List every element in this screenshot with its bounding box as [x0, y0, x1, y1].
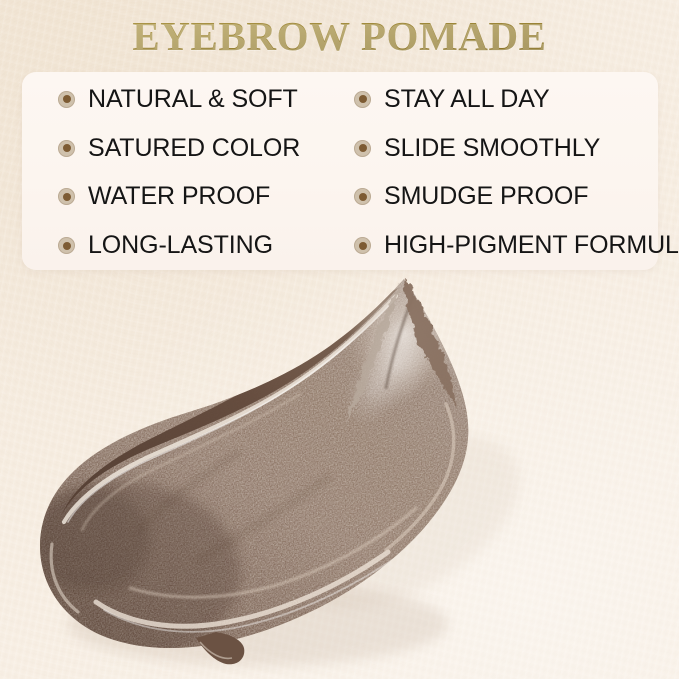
feature-item-smudge-proof: SMUDGE PROOF [333, 184, 658, 209]
bullet-dot-icon [354, 91, 371, 108]
feature-label: WATER PROOF [88, 184, 270, 209]
feature-item-natural-soft: NATURAL & SOFT [22, 87, 333, 112]
feature-label: SMUDGE PROOF [384, 184, 588, 209]
pomade-smear-swatch [0, 272, 679, 679]
feature-label: NATURAL & SOFT [88, 87, 298, 112]
feature-label: LONG-LASTING [88, 233, 273, 258]
bullet-dot-icon [354, 140, 371, 157]
feature-item-stay-all-day: STAY ALL DAY [333, 87, 658, 112]
feature-item-satured-color: SATURED COLOR [22, 136, 333, 161]
feature-card: NATURAL & SOFT STAY ALL DAY SATURED COLO… [22, 72, 658, 270]
feature-label: HIGH-PIGMENT FORMULA [384, 233, 679, 258]
bullet-dot-icon [58, 91, 75, 108]
feature-item-water-proof: WATER PROOF [22, 184, 333, 209]
feature-item-long-lasting: LONG-LASTING [22, 233, 333, 258]
feature-grid: NATURAL & SOFT STAY ALL DAY SATURED COLO… [22, 72, 658, 270]
bullet-dot-icon [354, 237, 371, 254]
bullet-dot-icon [58, 237, 75, 254]
product-infographic: EYEBROW POMADE NATURAL & SOFT STAY ALL D… [0, 0, 679, 679]
feature-item-slide-smoothly: SLIDE SMOOTHLY [333, 136, 658, 161]
feature-label: SLIDE SMOOTHLY [384, 136, 600, 161]
feature-label: STAY ALL DAY [384, 87, 550, 112]
bullet-dot-icon [58, 140, 75, 157]
bullet-dot-icon [354, 188, 371, 205]
bullet-dot-icon [58, 188, 75, 205]
feature-item-high-pigment-formula: HIGH-PIGMENT FORMULA [333, 233, 658, 258]
feature-label: SATURED COLOR [88, 136, 300, 161]
page-title: EYEBROW POMADE [0, 8, 679, 64]
